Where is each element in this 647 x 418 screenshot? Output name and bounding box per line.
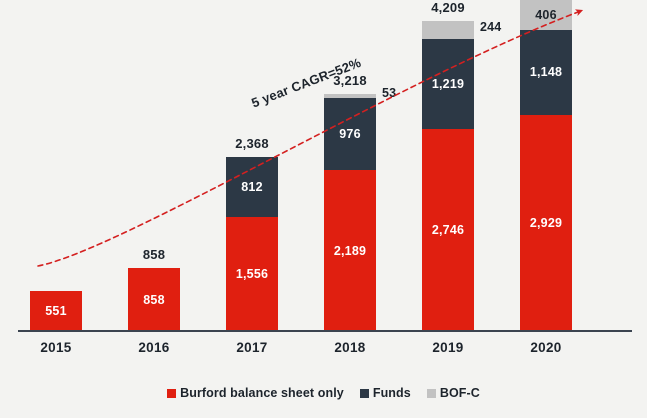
bar-segment-funds[interactable]: 1,219 [422,39,474,129]
bar-segment-funds[interactable]: 812 [226,157,278,217]
bar-segment-burford-balance-sheet-only[interactable]: 551 [30,291,82,332]
x-tick-2016: 2016 [128,340,180,355]
x-axis-line [18,330,632,332]
x-tick-2017: 2017 [226,340,278,355]
bar-segment-value: 406 [535,9,556,22]
x-tick-2018: 2018 [324,340,376,355]
legend-swatch-gray-icon [427,389,436,398]
legend-label: Burford balance sheet only [180,386,344,400]
bar-column-2017[interactable]: 2,368 812 1,556 [226,157,278,332]
bar-column-2020[interactable]: 4,483 406 1,148 2,929 [520,0,572,332]
bar-segment-burford-balance-sheet-only[interactable]: 2,189 [324,170,376,332]
bar-segment-value: 1,219 [432,78,464,91]
bar-segment-burford-balance-sheet-only[interactable]: 858 [128,268,180,332]
legend-swatch-navy-icon [360,389,369,398]
bar-segment-bof-c[interactable]: 406 [520,0,572,30]
chart-canvas: 551 858 858 2,368 812 1,556 3,218 976 [0,0,647,418]
bar-segment-value: 551 [45,305,66,318]
bar-segment-bof-c[interactable] [422,21,474,39]
x-tick-2015: 2015 [30,340,82,355]
bar-segment-bof-c-callout: 53 [382,86,396,100]
bar-segment-burford-balance-sheet-only[interactable]: 2,929 [520,115,572,332]
bar-segment-bof-c-callout: 244 [480,20,501,34]
plot-area: 551 858 858 2,368 812 1,556 3,218 976 [0,0,647,332]
legend-label: BOF-C [440,386,480,400]
bar-column-2019[interactable]: 4,209 1,219 2,746 244 [422,21,474,332]
chart-legend: Burford balance sheet only Funds BOF-C [0,386,647,400]
bar-segment-value: 2,929 [530,217,562,230]
bar-segment-funds[interactable]: 976 [324,98,376,170]
bar-segment-funds[interactable]: 1,148 [520,30,572,115]
legend-item-bof-c[interactable]: BOF-C [427,386,480,400]
trend-line [38,12,578,266]
legend-item-burford-balance-sheet-only[interactable]: Burford balance sheet only [167,386,344,400]
legend-swatch-red-icon [167,389,176,398]
bar-segment-burford-balance-sheet-only[interactable]: 2,746 [422,129,474,332]
x-tick-2019: 2019 [422,340,474,355]
bar-segment-value: 858 [143,294,164,307]
bar-segment-value: 1,556 [236,268,268,281]
x-tick-2020: 2020 [520,340,572,355]
bar-segment-value: 976 [339,128,360,141]
bar-column-2018[interactable]: 3,218 976 2,189 53 [324,94,376,332]
bar-segment-burford-balance-sheet-only[interactable]: 1,556 [226,217,278,332]
bar-segment-value: 2,189 [334,245,366,258]
bar-segment-value: 2,746 [432,224,464,237]
bar-column-2016[interactable]: 858 858 [128,268,180,332]
legend-item-funds[interactable]: Funds [360,386,411,400]
bar-column-2015[interactable]: 551 [30,291,82,332]
bar-segment-value: 1,148 [530,66,562,79]
column-total-label: 2,368 [235,136,269,151]
x-axis-tick-labels: 2015 2016 2017 2018 2019 2020 [0,340,647,366]
column-total-label: 858 [143,247,165,262]
legend-label: Funds [373,386,411,400]
bar-segment-value: 812 [241,181,262,194]
column-total-label: 4,209 [431,0,465,15]
